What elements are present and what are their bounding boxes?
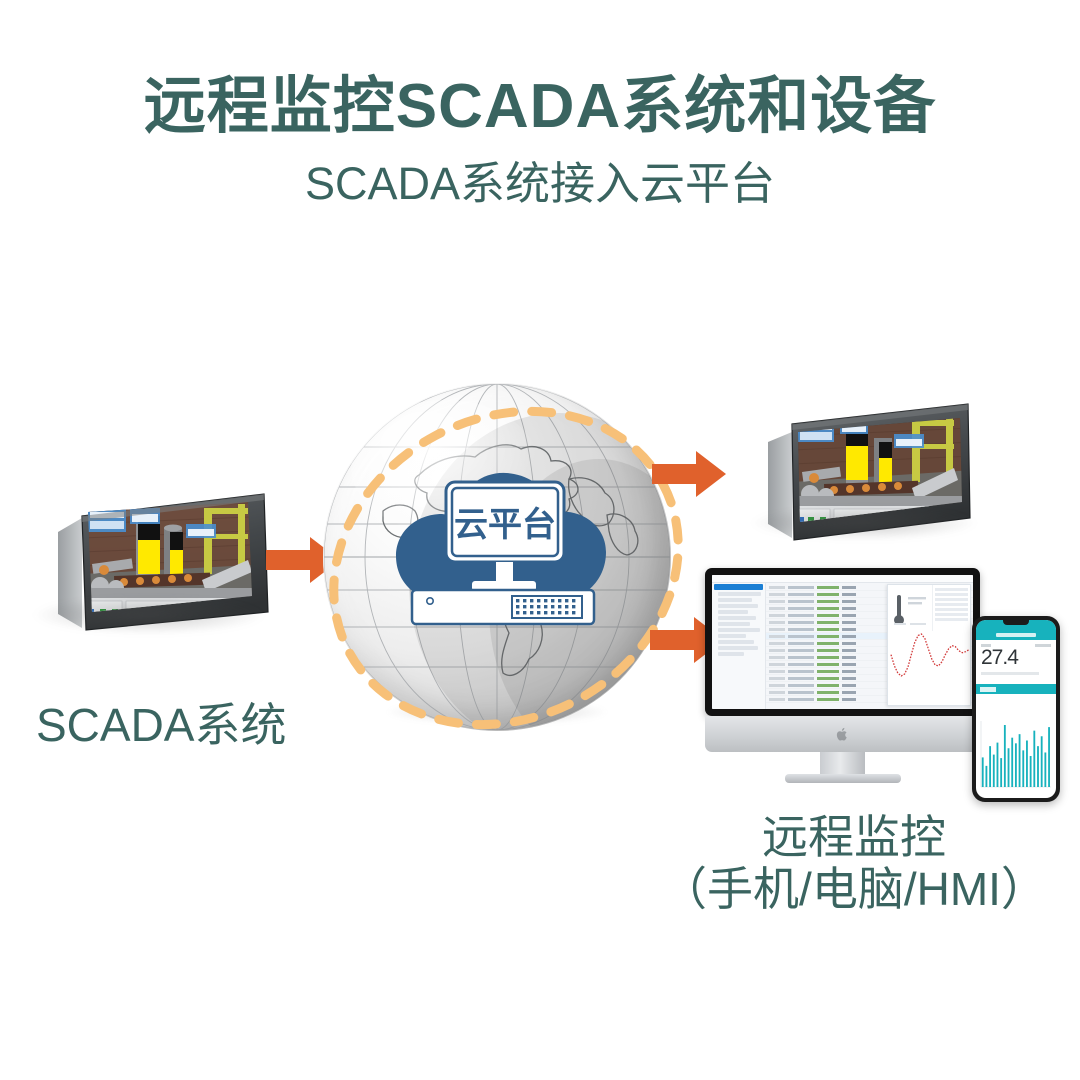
arrow-cloud-to-hmi — [652, 448, 728, 500]
sidebar-item[interactable] — [718, 616, 756, 620]
page-title: 远程监控SCADA系统和设备 — [0, 74, 1080, 139]
phone-body: 27.4 — [972, 616, 1060, 802]
sidebar-item[interactable] — [718, 634, 746, 638]
sidebar-item[interactable] — [718, 610, 748, 614]
phone-tag-chip[interactable] — [980, 687, 996, 692]
sidebar-item[interactable] — [718, 640, 754, 644]
caption-remote-line1: 远程监控 — [648, 812, 1060, 864]
device-detail-panel[interactable] — [887, 584, 971, 706]
phone-notch — [1003, 620, 1029, 625]
caption-scada-system: SCADA系统 — [36, 700, 286, 752]
hmi-source-shadow — [34, 596, 264, 634]
phone-screen[interactable]: 27.4 — [976, 620, 1056, 798]
mobile-phone[interactable]: 27.4 — [972, 616, 1060, 802]
caption-remote-monitoring: 远程监控 （手机/电脑/HMI） — [648, 812, 1060, 915]
hmi-panel-remote[interactable] — [762, 402, 984, 548]
sidebar-item[interactable] — [718, 628, 760, 632]
phone-app-title — [996, 633, 1036, 637]
phone-bar-chart — [976, 715, 1056, 792]
sidebar-item[interactable] — [718, 652, 744, 656]
sidebar-item[interactable] — [718, 622, 750, 626]
dashboard-table[interactable] — [766, 575, 973, 709]
sidebar-item-selected[interactable] — [714, 584, 763, 590]
desktop-computer[interactable] — [705, 568, 980, 783]
sidebar-item[interactable] — [718, 646, 758, 650]
cloud-label: 云平台 — [454, 506, 556, 544]
phone-tag-bar[interactable] — [976, 684, 1056, 694]
phone-reading-subtext — [981, 672, 1039, 675]
desktop-stand-foot — [785, 774, 901, 783]
hmi-remote-shadow — [752, 506, 976, 540]
desktop-bezel — [705, 568, 980, 716]
sidebar-item[interactable] — [718, 598, 752, 602]
dashboard-sidebar[interactable] — [712, 575, 766, 709]
sidebar-item[interactable] — [718, 592, 761, 596]
phone-reading-card: 27.4 — [976, 640, 1056, 684]
title-block: 远程监控SCADA系统和设备 SCADA系统接入云平台 — [0, 74, 1080, 209]
gauge-widget — [888, 585, 933, 631]
detail-grid — [933, 585, 970, 631]
sidebar-item[interactable] — [718, 604, 758, 608]
page-subtitle: SCADA系统接入云平台 — [0, 159, 1080, 209]
caption-remote-line2: （手机/电脑/HMI） — [648, 864, 1060, 916]
trend-chart — [888, 631, 970, 705]
diagram-canvas: 远程监控SCADA系统和设备 SCADA系统接入云平台 — [0, 0, 1080, 1080]
scada-dashboard — [712, 575, 973, 709]
desktop-screen[interactable] — [712, 575, 973, 709]
detail-panel-header — [888, 585, 970, 632]
phone-status-bar — [976, 620, 1056, 629]
hmi-panel-source[interactable] — [52, 488, 282, 638]
phone-app-bar — [976, 629, 1056, 640]
desktop-chin — [705, 716, 980, 752]
cloud-platform-icon[interactable]: 云平台 — [390, 458, 618, 658]
sensor-reading-value: 27.4 — [981, 647, 1051, 668]
apple-logo-icon — [836, 727, 849, 742]
